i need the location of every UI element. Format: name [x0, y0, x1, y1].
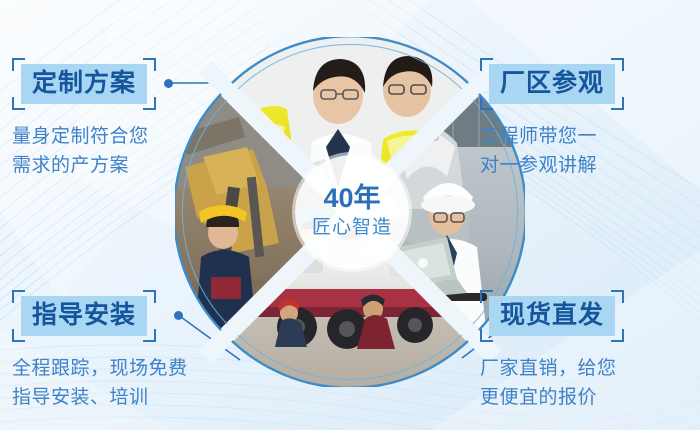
bracket-bottom-left-icon	[12, 97, 25, 110]
bracket-bottom-right-icon	[611, 97, 624, 110]
bracket-top-left-icon	[480, 58, 493, 71]
feature-description-line: 需求的产方案	[12, 151, 222, 180]
feature-description: 工程师带您一 对一参观讲解	[480, 122, 690, 181]
promo-banner: 40年 匠心智造 定制方案 量身定制符合您 需求的产方案 厂区参观 工程师带您一…	[0, 0, 700, 430]
center-subline: 匠心智造	[312, 216, 392, 240]
bracket-bottom-left-icon	[480, 97, 493, 110]
feature-title: 厂区参观	[489, 64, 615, 104]
feature-description-line: 厂家直销，给您	[480, 354, 690, 383]
feature-title: 指导安装	[21, 296, 147, 336]
bracket-bottom-right-icon	[611, 329, 624, 342]
feature-description: 量身定制符合您 需求的产方案	[12, 122, 222, 181]
feature-description: 厂家直销，给您 更便宜的报价	[480, 354, 690, 413]
center-hub: 40年 匠心智造	[295, 155, 409, 269]
feature-custom-solution[interactable]: 定制方案 量身定制符合您 需求的产方案	[12, 58, 222, 181]
photo-wheel: 40年 匠心智造	[175, 37, 525, 387]
bracket-bottom-left-icon	[12, 329, 25, 342]
feature-title-badge-custom-solution: 定制方案	[12, 58, 156, 110]
bracket-top-right-icon	[611, 290, 624, 303]
bracket-top-right-icon	[143, 58, 156, 71]
feature-in-stock-shipping[interactable]: 现货直发 厂家直销，给您 更便宜的报价	[480, 290, 690, 413]
center-headline: 40年	[323, 184, 380, 214]
bracket-bottom-right-icon	[143, 329, 156, 342]
feature-description-line: 全程跟踪，现场免费	[12, 354, 222, 383]
feature-description-line: 指导安装、培训	[12, 383, 222, 412]
feature-description-line: 更便宜的报价	[480, 383, 690, 412]
feature-install-guidance[interactable]: 指导安装 全程跟踪，现场免费 指导安装、培训	[12, 290, 222, 413]
bracket-top-left-icon	[12, 290, 25, 303]
feature-title-badge-factory-tour: 厂区参观	[480, 58, 624, 110]
bracket-top-left-icon	[480, 290, 493, 303]
feature-title-badge-in-stock-shipping: 现货直发	[480, 290, 624, 342]
feature-title-badge-install-guidance: 指导安装	[12, 290, 156, 342]
bracket-top-right-icon	[611, 58, 624, 71]
bracket-bottom-right-icon	[143, 97, 156, 110]
feature-title: 现货直发	[489, 296, 615, 336]
feature-factory-tour[interactable]: 厂区参观 工程师带您一 对一参观讲解	[480, 58, 690, 181]
feature-description-line: 对一参观讲解	[480, 151, 690, 180]
bracket-bottom-left-icon	[480, 329, 493, 342]
feature-description-line: 工程师带您一	[480, 122, 690, 151]
feature-description-line: 量身定制符合您	[12, 122, 222, 151]
bracket-top-left-icon	[12, 58, 25, 71]
bracket-top-right-icon	[143, 290, 156, 303]
feature-title: 定制方案	[21, 64, 147, 104]
feature-description: 全程跟踪，现场免费 指导安装、培训	[12, 354, 222, 413]
